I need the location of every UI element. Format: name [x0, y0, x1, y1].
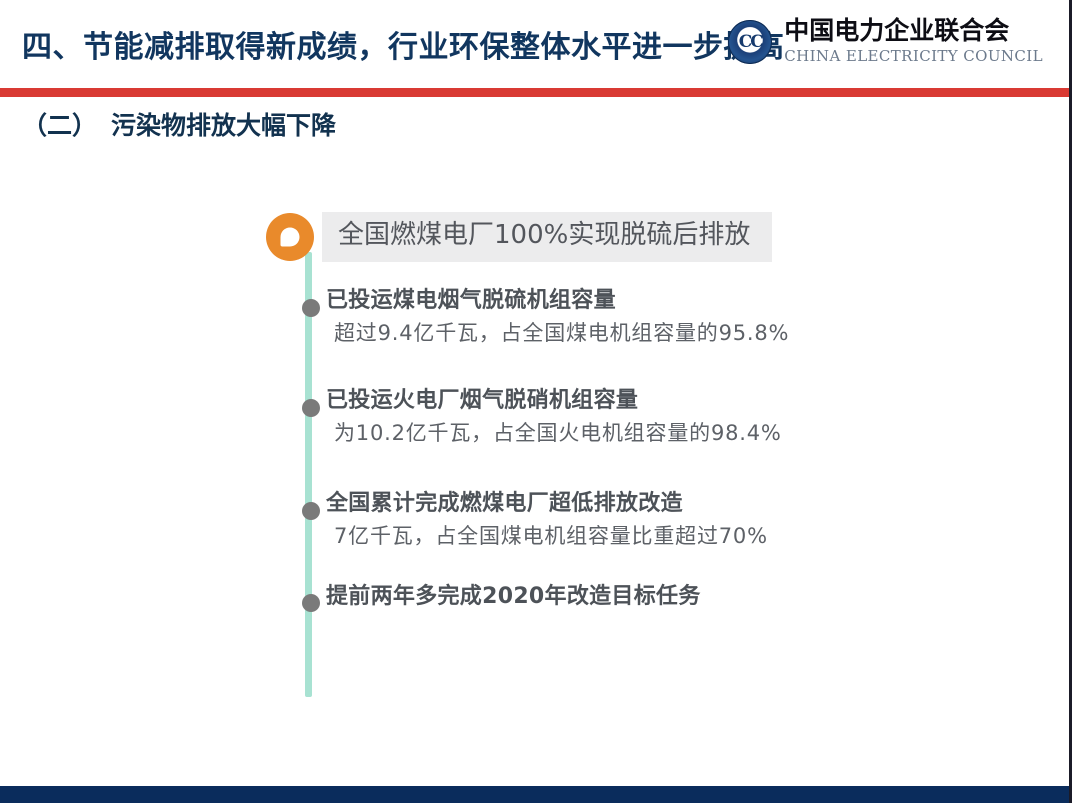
list-item-detail: 7亿千瓦，占全国煤电机组容量比重超过70% [334, 520, 768, 550]
logo-chinese-name: 中国电力企业联合会 [784, 18, 1043, 44]
logo-text-block: 中国电力企业联合会 CHINA ELECTRICITY COUNCIL [784, 18, 1043, 65]
content-headline: 全国燃煤电厂100%实现脱硫后排放 [266, 212, 772, 262]
footer-bar [0, 786, 1069, 803]
page-title: 四、节能减排取得新成绩，行业环保整体水平进一步提高 [22, 22, 785, 66]
header-divider-bar [0, 88, 1069, 97]
list-item-detail: 为10.2亿千瓦，占全国火电机组容量的98.4% [334, 417, 782, 447]
timeline-bullet-icon [302, 594, 320, 612]
section-subtitle: （二）污染物排放大幅下降 [22, 106, 336, 142]
cec-seal-icon [728, 20, 772, 64]
list-item-title: 已投运火电厂烟气脱硝机组容量 [326, 382, 638, 414]
section-subtitle-text: 污染物排放大幅下降 [111, 111, 336, 140]
timeline-bullet-icon [302, 502, 320, 520]
list-item-detail: 超过9.4亿千瓦，占全国煤电机组容量的95.8% [334, 317, 789, 347]
bubble-shape [281, 227, 300, 246]
slide-header: 四、节能减排取得新成绩，行业环保整体水平进一步提高 中国电力企业联合会 CHIN… [0, 0, 1069, 88]
timeline-track [305, 252, 312, 697]
organization-logo: 中国电力企业联合会 CHINA ELECTRICITY COUNCIL [728, 18, 1043, 65]
orange-speech-bubble-icon [266, 213, 314, 261]
list-item-title: 全国累计完成燃煤电厂超低排放改造 [326, 485, 683, 517]
slide: 四、节能减排取得新成绩，行业环保整体水平进一步提高 中国电力企业联合会 CHIN… [0, 0, 1072, 803]
section-number: （二） [22, 111, 97, 140]
timeline-bullet-icon [302, 299, 320, 317]
timeline-bullet-icon [302, 399, 320, 417]
list-item-title: 提前两年多完成2020年改造目标任务 [326, 578, 701, 610]
logo-english-name: CHINA ELECTRICITY COUNCIL [784, 47, 1043, 65]
list-item-title: 已投运煤电烟气脱硫机组容量 [326, 282, 616, 314]
content-headline-text: 全国燃煤电厂100%实现脱硫后排放 [322, 212, 772, 262]
